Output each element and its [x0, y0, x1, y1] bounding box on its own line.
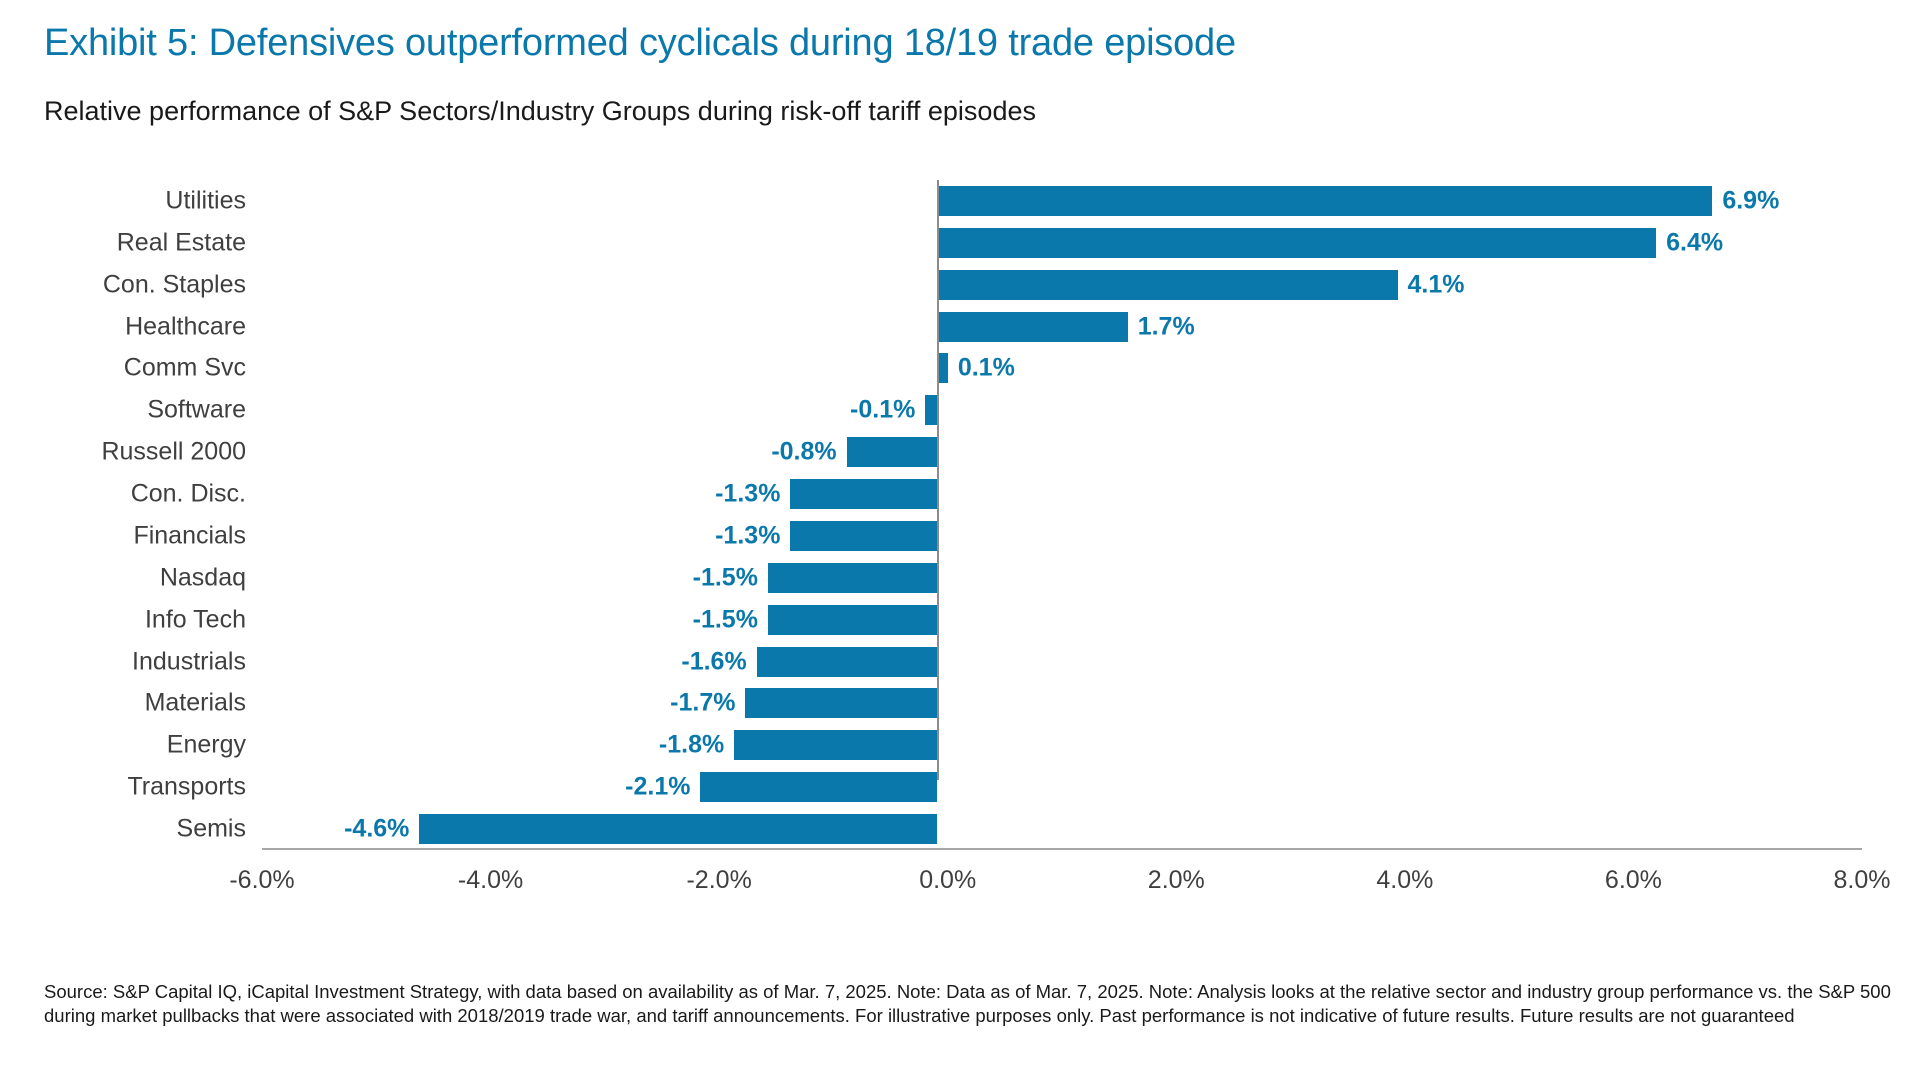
- bar-row: Healthcare1.7%: [262, 306, 1836, 348]
- category-label: Con. Staples: [52, 270, 262, 299]
- x-tick-label: -2.0%: [686, 866, 751, 895]
- category-label: Financials: [52, 521, 262, 550]
- value-label: 6.4%: [1666, 228, 1723, 257]
- source-footnote: Source: S&P Capital IQ, iCapital Investm…: [44, 980, 1894, 1027]
- bar-chart: Utilities6.9%Real Estate6.4%Con. Staples…: [44, 180, 1876, 920]
- bar-row: Financials-1.3%: [262, 515, 1836, 557]
- bar-row: Software-0.1%: [262, 389, 1836, 431]
- bar[interactable]: [937, 270, 1398, 300]
- value-label: -1.7%: [670, 689, 735, 718]
- value-label: -1.5%: [693, 563, 758, 592]
- value-label: -1.3%: [715, 521, 780, 550]
- value-label: -1.6%: [681, 647, 746, 676]
- value-label: -1.3%: [715, 480, 780, 509]
- bar[interactable]: [768, 605, 937, 635]
- x-tick-label: 6.0%: [1605, 866, 1662, 895]
- bar[interactable]: [925, 395, 936, 425]
- value-label: 0.1%: [958, 354, 1015, 383]
- category-label: Nasdaq: [52, 563, 262, 592]
- x-tick-label: 0.0%: [919, 866, 976, 895]
- category-label: Materials: [52, 689, 262, 718]
- x-tick-label: 2.0%: [1148, 866, 1205, 895]
- page-subtitle: Relative performance of S&P Sectors/Indu…: [44, 96, 1036, 127]
- bar-rows: Utilities6.9%Real Estate6.4%Con. Staples…: [262, 180, 1836, 850]
- bar-row: Semis-4.6%: [262, 808, 1836, 850]
- value-label: -0.1%: [850, 396, 915, 425]
- bar-row: Comm Svc0.1%: [262, 348, 1836, 390]
- bar-row: Nasdaq-1.5%: [262, 557, 1836, 599]
- bar-row: Real Estate6.4%: [262, 222, 1836, 264]
- category-label: Utilities: [52, 186, 262, 215]
- plot-area: Utilities6.9%Real Estate6.4%Con. Staples…: [262, 180, 1836, 850]
- value-label: -4.6%: [344, 815, 409, 844]
- bar[interactable]: [768, 563, 937, 593]
- chart-page: Exhibit 5: Defensives outperformed cycli…: [0, 0, 1920, 1080]
- value-label: -2.1%: [625, 773, 690, 802]
- value-label: 6.9%: [1722, 186, 1779, 215]
- zero-axis-line: [937, 180, 939, 780]
- value-label: -0.8%: [771, 438, 836, 467]
- category-label: Semis: [52, 815, 262, 844]
- category-label: Healthcare: [52, 312, 262, 341]
- bar[interactable]: [790, 521, 936, 551]
- value-label: 4.1%: [1408, 270, 1465, 299]
- value-label: 1.7%: [1138, 312, 1195, 341]
- x-tick-label: -6.0%: [229, 866, 294, 895]
- category-label: Software: [52, 396, 262, 425]
- bar[interactable]: [419, 814, 936, 844]
- bar-row: Materials-1.7%: [262, 683, 1836, 725]
- value-label: -1.8%: [659, 731, 724, 760]
- bar-row: Info Tech-1.5%: [262, 599, 1836, 641]
- bar[interactable]: [734, 730, 936, 760]
- bar-row: Con. Staples4.1%: [262, 264, 1836, 306]
- bar[interactable]: [757, 647, 937, 677]
- x-tick-label: 8.0%: [1834, 866, 1891, 895]
- category-label: Info Tech: [52, 605, 262, 634]
- bar-row: Energy-1.8%: [262, 724, 1836, 766]
- bar-row: Transports-2.1%: [262, 766, 1836, 808]
- bar[interactable]: [937, 186, 1713, 216]
- bar-row: Con. Disc.-1.3%: [262, 473, 1836, 515]
- bar[interactable]: [790, 479, 936, 509]
- category-label: Russell 2000: [52, 438, 262, 467]
- bar[interactable]: [700, 772, 936, 802]
- bar[interactable]: [847, 437, 937, 467]
- bar-row: Utilities6.9%: [262, 180, 1836, 222]
- category-label: Transports: [52, 773, 262, 802]
- x-tick-label: 4.0%: [1376, 866, 1433, 895]
- value-label: -1.5%: [693, 605, 758, 634]
- x-tick-label: -4.0%: [458, 866, 523, 895]
- page-title: Exhibit 5: Defensives outperformed cycli…: [44, 22, 1236, 65]
- category-label: Energy: [52, 731, 262, 760]
- category-label: Real Estate: [52, 228, 262, 257]
- bar[interactable]: [937, 228, 1657, 258]
- bar[interactable]: [745, 688, 936, 718]
- category-label: Industrials: [52, 647, 262, 676]
- bar[interactable]: [937, 312, 1128, 342]
- bar-row: Russell 2000-0.8%: [262, 431, 1836, 473]
- category-label: Comm Svc: [52, 354, 262, 383]
- bar-row: Industrials-1.6%: [262, 641, 1836, 683]
- category-label: Con. Disc.: [52, 480, 262, 509]
- x-axis-line: [262, 848, 1862, 850]
- x-axis-ticks: -6.0%-4.0%-2.0%0.0%2.0%4.0%6.0%8.0%: [262, 866, 1862, 906]
